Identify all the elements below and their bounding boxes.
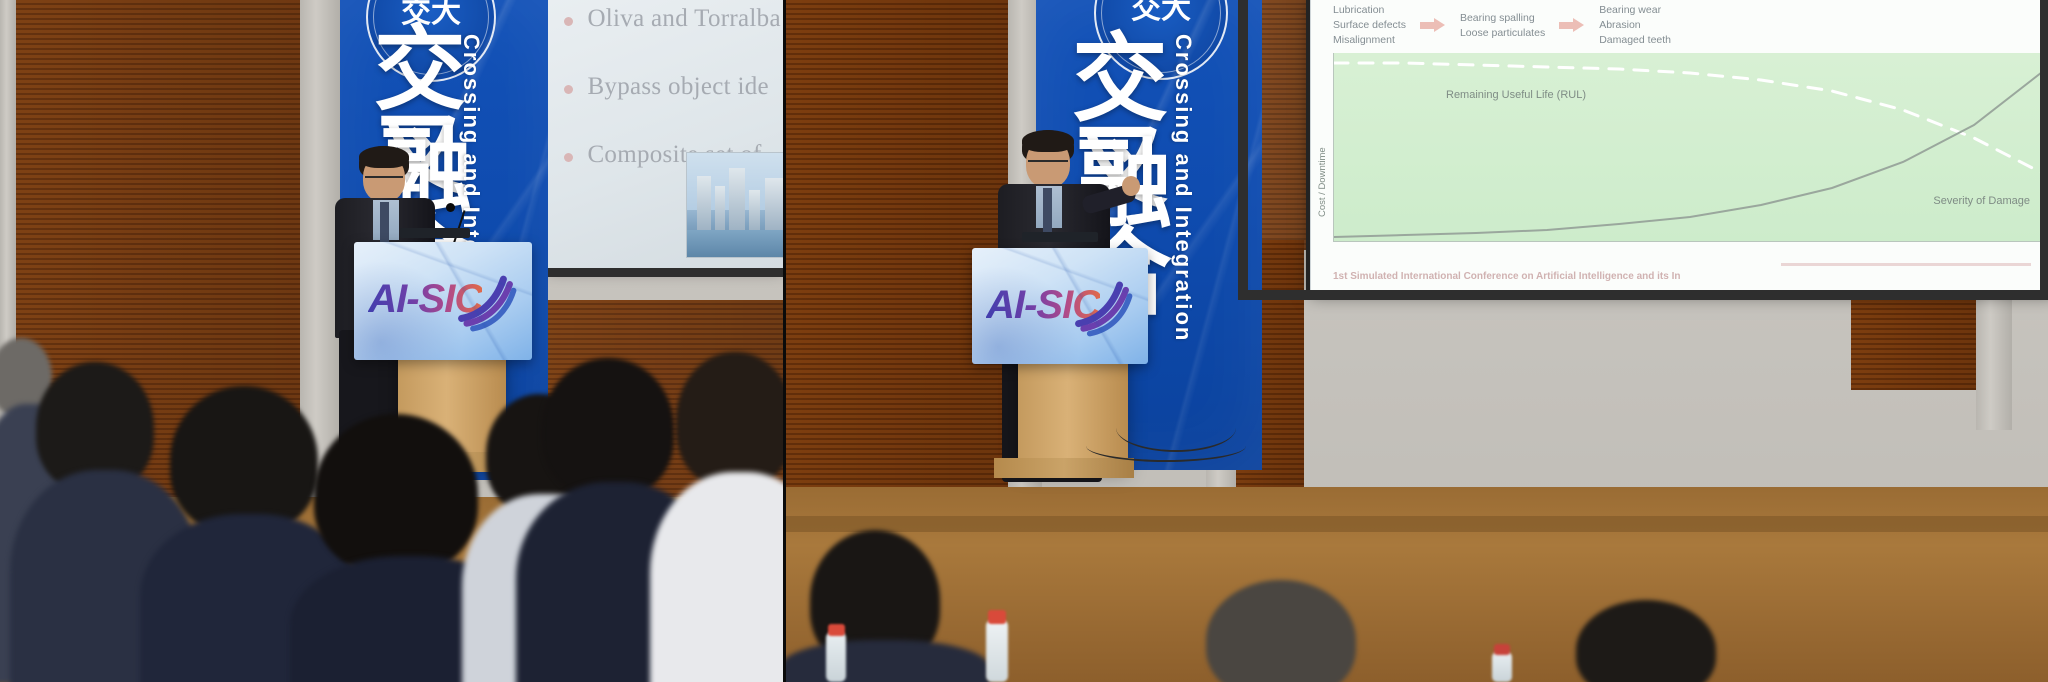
flow-stage-3-line-3: Damaged teeth bbox=[1599, 33, 1671, 48]
thumbnail-building bbox=[765, 178, 783, 230]
arrow-right-icon bbox=[1420, 18, 1446, 33]
screenshot-canvas: Oliva and Torralba Bypass object ide Com… bbox=[0, 0, 2048, 682]
microphone-head-icon bbox=[446, 203, 455, 212]
laptop-left bbox=[400, 228, 470, 238]
screen-frame-right bbox=[2040, 0, 2048, 300]
thumbnail-water bbox=[687, 230, 783, 257]
thumbnail-building bbox=[697, 176, 711, 230]
bottle-cap bbox=[988, 610, 1006, 624]
university-emblem-icon: 交大 bbox=[1094, 0, 1228, 80]
thumbnail-building bbox=[729, 168, 745, 230]
podium-logo-panel-left: AI-SIC bbox=[354, 242, 532, 360]
slide-footer-text: 1st Simulated International Conference o… bbox=[1333, 271, 1680, 282]
swoosh-icon bbox=[443, 269, 521, 332]
flow-stage-2-line-1: Bearing spalling bbox=[1460, 11, 1545, 26]
podium-logo-text: AI-SIC bbox=[986, 283, 1100, 328]
bullet-dot-icon bbox=[564, 153, 573, 162]
rul-dashed-line bbox=[1334, 63, 2046, 175]
podium-logo: AI-SIC bbox=[368, 273, 518, 330]
emblem-label: 交大 bbox=[1131, 0, 1191, 27]
wood-wall-upper bbox=[1256, 0, 1312, 250]
emblem-ring bbox=[1101, 0, 1221, 73]
glasses-icon bbox=[1028, 160, 1068, 162]
podium-logo-panel-right: AI-SIC bbox=[972, 248, 1148, 364]
projection-screen-right: Lubrication Surface defects Misalignment… bbox=[1310, 0, 2048, 292]
speaker-hand bbox=[1122, 176, 1140, 196]
speaker-hair-top bbox=[359, 146, 409, 168]
speaker-hair-top bbox=[1022, 130, 1074, 152]
swoosh-icon bbox=[1060, 275, 1137, 337]
flow-stage-1-line-1: Lubrication bbox=[1333, 3, 1406, 18]
flow-stage-1: Lubrication Surface defects Misalignment bbox=[1333, 3, 1406, 49]
glasses-icon bbox=[365, 176, 403, 178]
screen-frame-left bbox=[1238, 0, 1248, 300]
flow-stage-1-line-3: Misalignment bbox=[1333, 33, 1406, 48]
slide-bullet-2: Bypass object ide bbox=[564, 73, 780, 101]
speaker-tie bbox=[1043, 188, 1052, 234]
bottle-cap bbox=[1494, 644, 1510, 655]
left-photo: Oliva and Torralba Bypass object ide Com… bbox=[0, 0, 783, 682]
emblem-label: 交大 bbox=[401, 0, 461, 31]
flow-stage-3-line-2: Abrasion bbox=[1599, 18, 1671, 33]
chart-plot-area: Remaining Useful Life (RUL) Severity of … bbox=[1333, 53, 2046, 242]
chart-series-svg bbox=[1334, 53, 2046, 241]
flow-stage-3: Bearing wear Abrasion Damaged teeth bbox=[1599, 3, 1671, 49]
flow-stage-3-line-1: Bearing wear bbox=[1599, 3, 1671, 18]
failure-flow-diagram: Lubrication Surface defects Misalignment… bbox=[1333, 3, 1671, 49]
flow-stage-2-line-2: Loose particulates bbox=[1460, 26, 1545, 41]
water-bottle bbox=[986, 620, 1008, 682]
slide-bullet-2-text: Bypass object ide bbox=[587, 73, 768, 101]
laptop-right bbox=[1022, 232, 1098, 242]
slide-bullet-1: Oliva and Torralba bbox=[564, 5, 780, 33]
podium-logo: AI-SIC bbox=[986, 278, 1134, 334]
bullet-dot-icon bbox=[564, 85, 573, 94]
slide-photo-thumbnail bbox=[686, 152, 783, 258]
audience-head bbox=[676, 352, 783, 488]
footer-rule bbox=[1781, 263, 2031, 266]
thumbnail-building bbox=[715, 186, 725, 230]
right-photo: 交大 交叉 融合 Crossing and Integration Lubric… bbox=[786, 0, 2048, 682]
podium-logo-text: AI-SIC bbox=[368, 277, 482, 322]
arrow-right-icon bbox=[1559, 18, 1585, 33]
chart-x-axis-label: Severity of Damage bbox=[1933, 195, 2030, 207]
screen-frame-bottom bbox=[1238, 290, 2048, 300]
slide-bullet-1-text: Oliva and Torralba bbox=[587, 5, 780, 33]
audience-head bbox=[542, 358, 674, 498]
audience-head bbox=[170, 386, 318, 534]
bottle-cap bbox=[828, 624, 845, 636]
speaker-tie bbox=[380, 202, 389, 246]
bullet-dot-icon bbox=[564, 17, 573, 26]
audience-head bbox=[314, 414, 478, 574]
cost-downtime-curve bbox=[1334, 69, 2046, 237]
emblem-ring bbox=[373, 0, 489, 75]
water-bottle bbox=[1492, 652, 1512, 682]
podium-base-right bbox=[994, 458, 1134, 478]
university-emblem-icon: 交大 bbox=[366, 0, 496, 82]
thumbnail-building bbox=[749, 190, 760, 230]
chart-y-axis-label: Cost / Downtime bbox=[1317, 67, 1328, 217]
banner-vertical-text: Crossing and Integration bbox=[1170, 34, 1196, 384]
water-bottle bbox=[826, 632, 846, 682]
floor-cable bbox=[1086, 430, 1246, 462]
rul-annotation: Remaining Useful Life (RUL) bbox=[1446, 89, 1586, 101]
stage-edge bbox=[786, 516, 2048, 532]
projection-screen-left: Oliva and Torralba Bypass object ide Com… bbox=[548, 0, 783, 268]
screen-frame-bottom bbox=[540, 268, 783, 277]
flow-stage-2: Bearing spalling Loose particulates bbox=[1460, 11, 1545, 41]
panel-divider bbox=[783, 0, 786, 682]
flow-stage-1-line-2: Surface defects bbox=[1333, 18, 1406, 33]
